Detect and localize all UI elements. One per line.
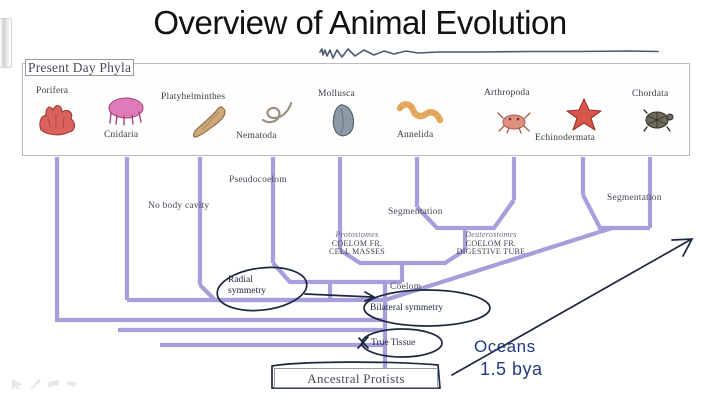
ancestral-protists-box: Ancestral Protists — [274, 368, 438, 388]
annotation-true-tissue: True Tissue — [371, 338, 415, 348]
cursor-icon[interactable] — [12, 379, 23, 390]
annotation-bilateral-symmetry: Bilateral symmetry — [370, 303, 443, 313]
highlighter-icon[interactable] — [48, 379, 59, 390]
ink-annotation-layer — [0, 0, 720, 404]
radial-line2: symmetry — [228, 286, 266, 296]
annotation-oceans: Oceans — [474, 337, 536, 357]
eraser-icon[interactable] — [66, 379, 77, 390]
pen-icon[interactable] — [30, 379, 41, 390]
presentation-slide: Overview of Animal Evolution — [0, 0, 720, 404]
annotation-toolbar[interactable] — [12, 379, 77, 390]
radial-line1: Radial — [228, 275, 253, 285]
annotation-radial-symmetry: Radial symmetry — [228, 275, 266, 297]
annotation-time-bya: 1.5 bya — [480, 359, 543, 380]
